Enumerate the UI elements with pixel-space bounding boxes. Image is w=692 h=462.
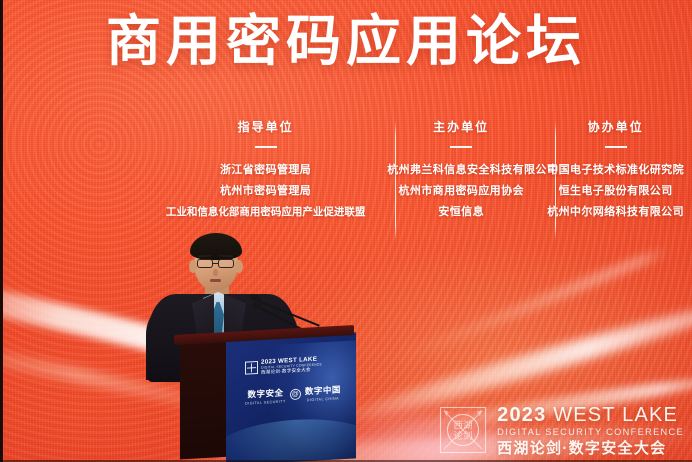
- at-symbol-icon: @: [290, 389, 301, 401]
- podium-side-panel: [180, 337, 230, 460]
- podium-wave-graphic: [226, 415, 356, 462]
- column-rule: [450, 146, 472, 148]
- brand-name-cn: 西湖论剑·数字安全大会: [497, 441, 684, 456]
- column-rule: [605, 146, 627, 148]
- forum-title: 商用密码应用论坛: [0, 12, 692, 71]
- speaker-ear-right: [235, 260, 243, 273]
- credit-line: 工业和信息化部商用密码应用产业促进联盟: [156, 207, 375, 218]
- glasses-bridge: [213, 263, 218, 264]
- glasses-icon: [197, 259, 213, 268]
- credit-line: 浙江省密码管理局: [156, 165, 375, 176]
- slogan-left-cn: 数字安全: [245, 386, 286, 400]
- column-title-co-organizer-unit: 协办单位: [547, 118, 684, 135]
- slogan-left: 数字安全 DIGITAL SECURITY: [245, 386, 286, 405]
- svg-text:西湖: 西湖: [454, 421, 473, 432]
- west-lake-emblem-icon: [245, 361, 258, 375]
- brand-name-en: WEST LAKE: [553, 404, 678, 426]
- credit-line: 杭州市密码管理局: [156, 186, 375, 197]
- frame-edge-left: [0, 0, 3, 462]
- speaker-nose: [213, 269, 218, 276]
- credit-column-guiding-unit: 指导单位 浙江省密码管理局 杭州市密码管理局 工业和信息化部商用密码应用产业促进…: [150, 118, 381, 228]
- credits-panel: 指导单位 浙江省密码管理局 杭州市密码管理局 工业和信息化部商用密码应用产业促进…: [150, 118, 690, 228]
- speaker-mouth: [210, 279, 221, 282]
- glasses-lens-right: [218, 259, 234, 268]
- credit-line: 中国电子技术标准化研究院: [547, 165, 684, 176]
- credit-line: 杭州弗兰科信息安全科技有限公司: [387, 165, 535, 176]
- conference-stage-photo: 商用密码应用论坛 指导单位 浙江省密码管理局 杭州市密码管理局 工业和信息化部商…: [0, 0, 692, 462]
- brand-watermark-text: 2023 WEST LAKE DIGITAL SECURITY CONFEREN…: [497, 405, 684, 456]
- slogan-right-cn: 数字中国: [305, 383, 341, 397]
- brand-title-en: 2023 WEST LAKE: [497, 405, 684, 425]
- brand-year: 2023: [497, 404, 546, 426]
- west-lake-crossed-swords-icon: 西湖 论剑: [437, 405, 489, 455]
- credit-column-co-organizer-unit: 协办单位 中国电子技术标准化研究院 恒生电子股份有限公司 杭州中尔网络科技有限公…: [541, 118, 690, 228]
- speaking-podium: 2023 WEST LAKE DIGITAL SECURITY CONFEREN…: [170, 330, 355, 462]
- svg-text:论剑: 论剑: [454, 430, 473, 442]
- credit-column-host-unit: 主办单位 杭州弗兰科信息安全科技有限公司 杭州市商用密码应用协会 安恒信息: [381, 118, 541, 228]
- credit-line: 杭州市商用密码应用协会: [387, 186, 535, 197]
- column-title-host-unit: 主办单位: [387, 118, 535, 135]
- speaker-ear-left: [189, 260, 197, 273]
- column-rule: [255, 146, 277, 148]
- column-title-guiding-unit: 指导单位: [156, 118, 375, 135]
- credit-line: 杭州中尔网络科技有限公司: [547, 207, 684, 218]
- credit-line: 恒生电子股份有限公司: [547, 186, 684, 197]
- brand-subtitle-en: DIGITAL SECURITY CONFERENCE: [497, 428, 684, 437]
- credit-line: 安恒信息: [387, 207, 535, 218]
- brand-watermark: 西湖 论剑 2023 WEST LAKE DIGITAL SECURITY CO…: [437, 405, 684, 456]
- slogan-right: 数字中国 DIGITAL CHINA: [305, 383, 341, 402]
